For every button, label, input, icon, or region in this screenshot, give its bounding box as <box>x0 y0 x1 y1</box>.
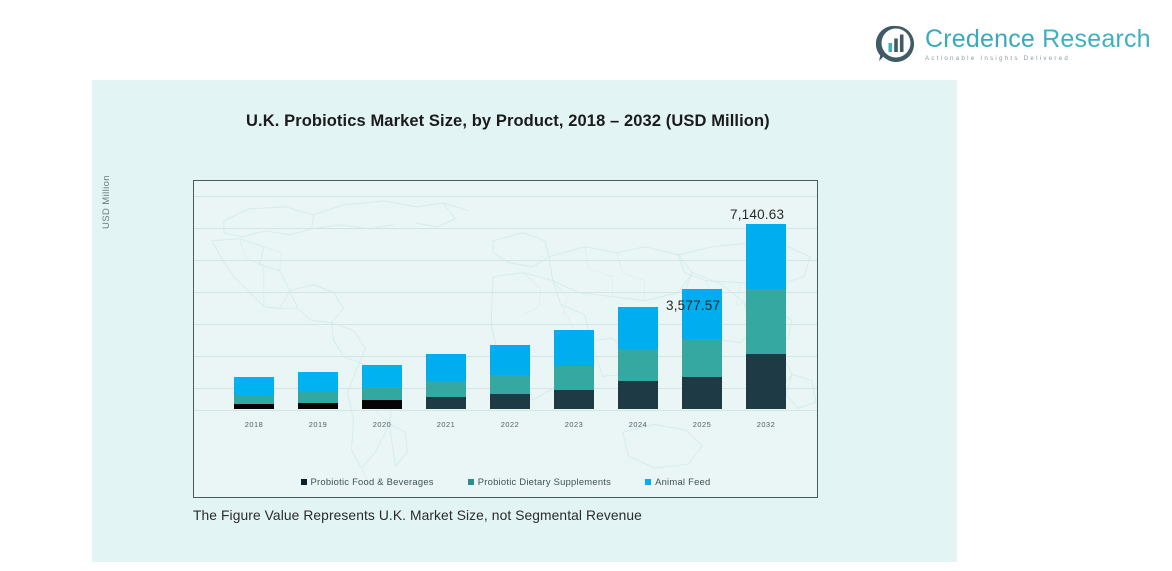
bar-2022[interactable] <box>490 345 530 409</box>
x-axis-tick-2021: 2021 <box>426 420 466 429</box>
bar-segment-2022-s1 <box>490 375 530 394</box>
bar-2020[interactable] <box>362 365 402 409</box>
x-axis-tick-2032: 2032 <box>746 420 786 429</box>
bar-segment-2024-s1 <box>618 349 658 381</box>
bar-2032[interactable] <box>746 224 786 409</box>
bar-segment-2025-s0 <box>682 377 722 409</box>
bar-2019[interactable] <box>298 372 338 409</box>
x-axis-tick-2018: 2018 <box>234 420 274 429</box>
bar-2024[interactable] <box>618 307 658 409</box>
x-axis-tick-2020: 2020 <box>362 420 402 429</box>
brand-name-part1: Credence <box>925 25 1035 53</box>
bar-segment-2032-s2 <box>746 224 786 289</box>
bar-segment-2025-s2 <box>682 289 722 339</box>
legend-swatch-food-beverages <box>301 479 307 485</box>
legend-label-animal-feed: Animal Feed <box>655 476 710 487</box>
bar-group: 2018201920202021202220232024202520323,57… <box>194 181 817 497</box>
legend-swatch-dietary-supplements <box>468 479 474 485</box>
bar-2018[interactable] <box>234 377 274 409</box>
chart-panel: U.K. Probiotics Market Size, by Product,… <box>92 80 957 562</box>
bar-segment-2020-s1 <box>362 388 402 400</box>
legend-label-food-beverages: Probiotic Food & Beverages <box>311 476 434 487</box>
bar-segment-2023-s0 <box>554 390 594 409</box>
bar-segment-2021-s2 <box>426 354 466 381</box>
bar-segment-2021-s0 <box>426 397 466 409</box>
legend-label-dietary-supplements: Probiotic Dietary Supplements <box>478 476 611 487</box>
bar-segment-2018-s0 <box>234 404 274 409</box>
chart-legend: Probiotic Food & Beverages Probiotic Die… <box>194 476 817 487</box>
bar-segment-2020-s2 <box>362 365 402 388</box>
x-axis-tick-2024: 2024 <box>618 420 658 429</box>
legend-item-food-beverages[interactable]: Probiotic Food & Beverages <box>301 476 434 487</box>
bar-segment-2019-s1 <box>298 392 338 403</box>
bar-2021[interactable] <box>426 354 466 409</box>
y-axis-label: USD Million <box>101 175 115 229</box>
brand-name-part2: Research <box>1042 25 1151 53</box>
bar-segment-2025-s1 <box>682 339 722 377</box>
page-title: U.K. Probiotics Market Size, by Product,… <box>246 112 770 131</box>
bar-segment-2018-s2 <box>234 377 274 395</box>
bar-segment-2018-s1 <box>234 395 274 404</box>
bar-2023[interactable] <box>554 330 594 409</box>
plot-area: 2018201920202021202220232024202520323,57… <box>193 180 818 498</box>
bar-segment-2022-s0 <box>490 394 530 409</box>
bar-segment-2024-s2 <box>618 307 658 349</box>
bar-segment-2019-s0 <box>298 403 338 409</box>
bar-segment-2032-s0 <box>746 354 786 409</box>
legend-item-dietary-supplements[interactable]: Probiotic Dietary Supplements <box>468 476 611 487</box>
bar-segment-2022-s2 <box>490 345 530 375</box>
brand-wordmark: Credence Research <box>925 26 1151 52</box>
x-axis-tick-2022: 2022 <box>490 420 530 429</box>
brand-tagline: Actionable Insights Delivered <box>925 55 1151 62</box>
brand-logo: Credence Research Actionable Insights De… <box>876 24 1151 64</box>
value-label-2025: 3,577.57 <box>666 298 720 313</box>
bar-segment-2024-s0 <box>618 381 658 409</box>
x-axis-tick-2025: 2025 <box>682 420 722 429</box>
value-label-2032: 7,140.63 <box>730 207 784 222</box>
bar-segment-2021-s1 <box>426 381 466 397</box>
bar-chart-circle-icon <box>876 24 916 64</box>
legend-swatch-animal-feed <box>645 479 651 485</box>
bar-segment-2023-s2 <box>554 330 594 366</box>
x-axis-tick-2019: 2019 <box>298 420 338 429</box>
bar-segment-2023-s1 <box>554 366 594 390</box>
bar-segment-2032-s1 <box>746 289 786 354</box>
bar-segment-2020-s0 <box>362 400 402 409</box>
legend-item-animal-feed[interactable]: Animal Feed <box>645 476 710 487</box>
bar-segment-2019-s2 <box>298 372 338 392</box>
figure-footnote: The Figure Value Represents U.K. Market … <box>193 508 642 523</box>
x-axis-tick-2023: 2023 <box>554 420 594 429</box>
